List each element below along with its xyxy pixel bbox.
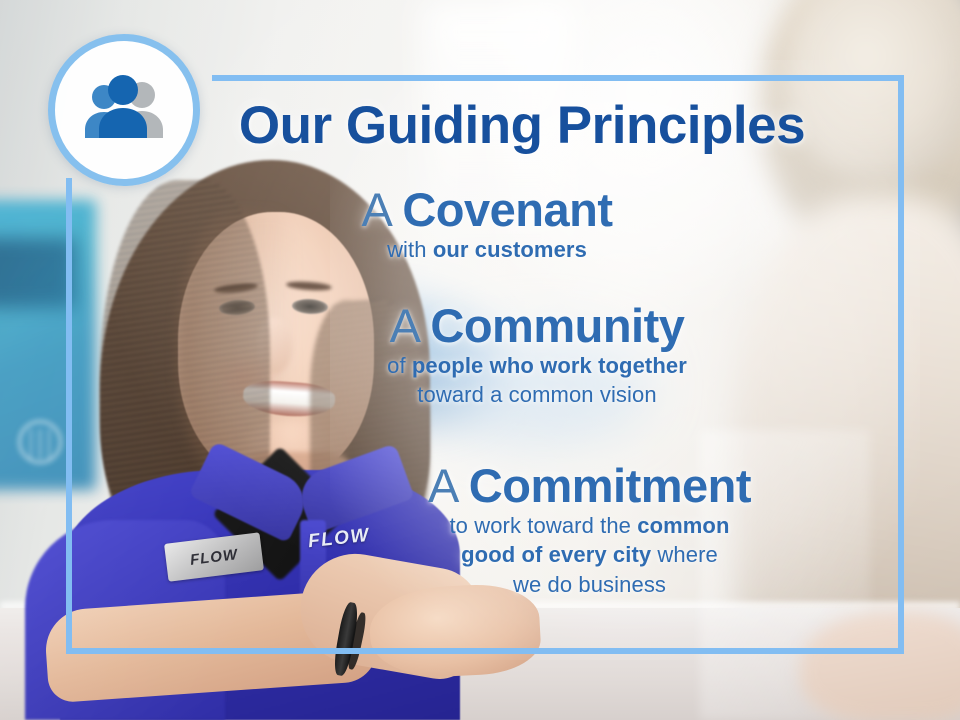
principle-commitment: A Commitment to work toward the common g… bbox=[0, 462, 904, 599]
principle-community-subline-2: toward a common vision bbox=[170, 380, 904, 409]
principle-covenant-heading: A Covenant bbox=[70, 186, 904, 235]
principle-commitment-subline-2: good of every city where bbox=[275, 540, 904, 569]
principle-covenant-article: A bbox=[362, 183, 403, 236]
principle-covenant: A Covenant with our customers bbox=[0, 186, 904, 264]
principle-community-subline-1: of people who work together bbox=[170, 351, 904, 380]
commitment-sub-1a: to work toward the bbox=[449, 513, 637, 538]
community-sub-2a: toward a common vision bbox=[417, 382, 656, 407]
covenant-sub-1b: our customers bbox=[433, 237, 587, 262]
principle-community-heading: A Community bbox=[170, 302, 904, 351]
principle-covenant-keyword: Covenant bbox=[402, 183, 612, 236]
principle-community: A Community of people who work together … bbox=[0, 302, 904, 410]
commitment-sub-3a: we do business bbox=[513, 572, 666, 597]
community-sub-1b: people who work together bbox=[412, 353, 687, 378]
commitment-sub-1b: common bbox=[637, 513, 729, 538]
principle-commitment-heading: A Commitment bbox=[275, 462, 904, 511]
principle-commitment-article: A bbox=[428, 459, 469, 512]
page-title: Our Guiding Principles bbox=[0, 95, 904, 156]
community-sub-1a: of bbox=[387, 353, 412, 378]
commitment-sub-2a: good of every city bbox=[461, 542, 651, 567]
principle-covenant-subline-1: with our customers bbox=[70, 235, 904, 264]
principle-commitment-subline-3: we do business bbox=[275, 570, 904, 599]
principle-commitment-keyword: Commitment bbox=[469, 459, 751, 512]
principles-content: Our Guiding Principles A Covenant with o… bbox=[0, 0, 960, 720]
principle-community-keyword: Community bbox=[430, 299, 684, 352]
principle-commitment-subline-1: to work toward the common bbox=[275, 511, 904, 540]
covenant-sub-1a: with bbox=[387, 237, 433, 262]
commitment-sub-2b: where bbox=[651, 542, 718, 567]
principle-community-article: A bbox=[390, 299, 431, 352]
